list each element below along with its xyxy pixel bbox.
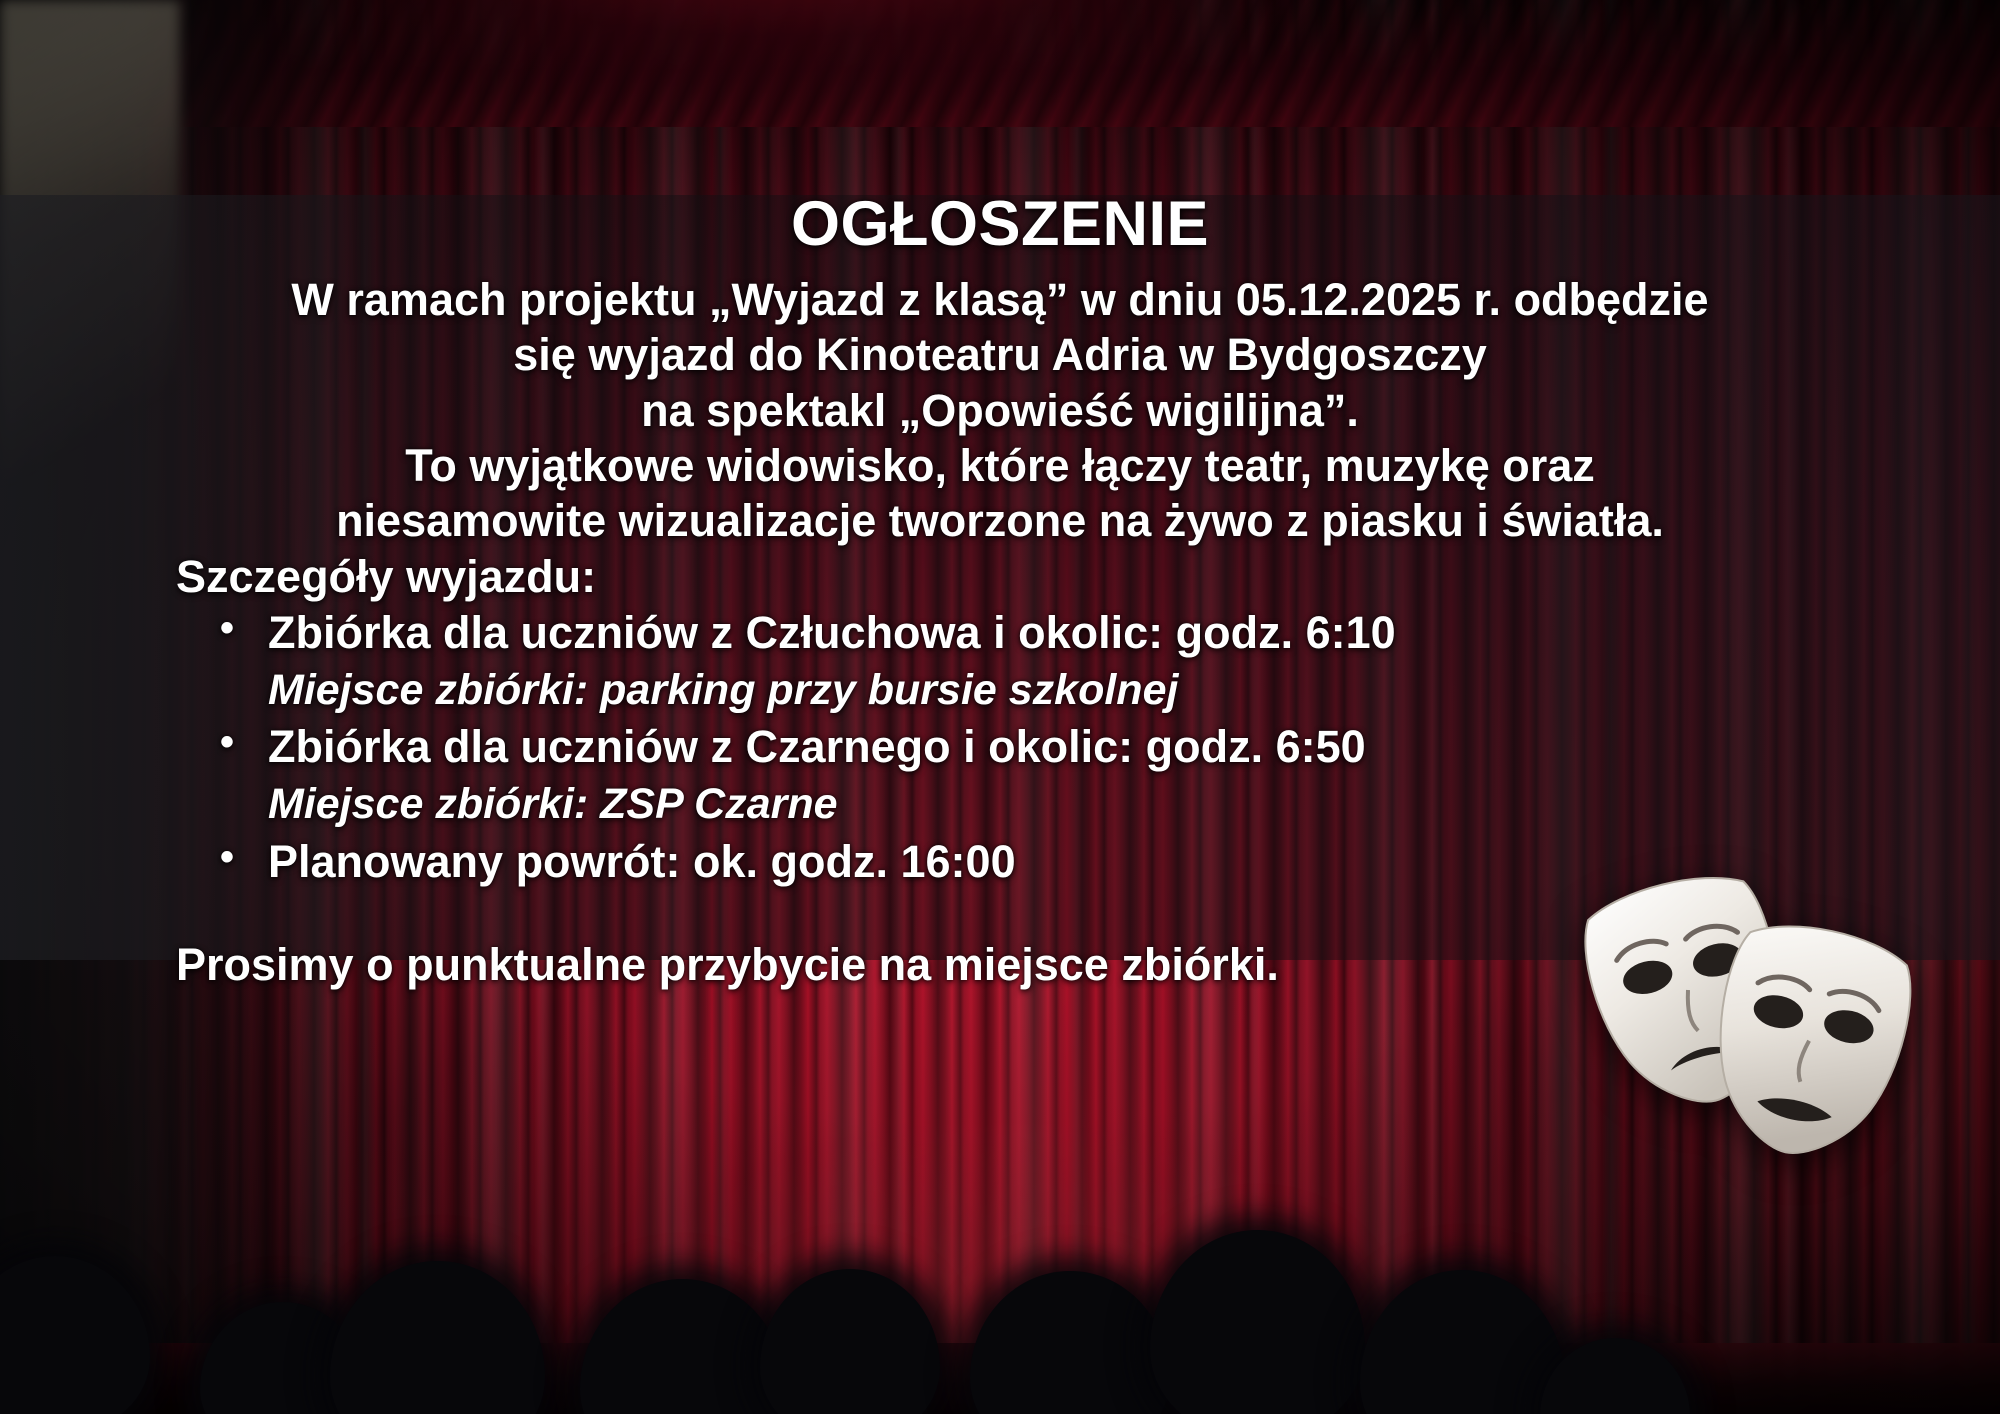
page-title: OGŁOSZENIE (34, 190, 1966, 258)
detail-main-text: Planowany powrót: ok. godz. 16:00 (220, 833, 1966, 892)
intro-line-3: na spektakl „Opowieść wigilijna”. (34, 383, 1966, 438)
poster-content: OGŁOSZENIE W ramach projektu „Wyjazd z k… (0, 190, 2000, 1039)
poster-canvas: OGŁOSZENIE W ramach projektu „Wyjazd z k… (0, 0, 2000, 1414)
intro-line-5: niesamowite wizualizacje tworzone na żyw… (34, 493, 1966, 548)
detail-sub-text: Miejsce zbiórki: parking przy bursie szk… (220, 663, 1966, 719)
list-item: Planowany powrót: ok. godz. 16:00 (220, 833, 1966, 892)
details-heading: Szczegóły wyjazdu: (34, 549, 1966, 604)
detail-sub-text: Miejsce zbiórki: ZSP Czarne (220, 777, 1966, 833)
intro-line-2: się wyjazd do Kinoteatru Adria w Bydgosz… (34, 327, 1966, 382)
closing-text: Prosimy o punktualne przybycie na miejsc… (34, 936, 1966, 994)
list-item: Zbiórka dla uczniów z Człuchowa i okolic… (220, 604, 1966, 718)
details-list: Zbiórka dla uczniów z Człuchowa i okolic… (34, 604, 1966, 891)
detail-main-text: Zbiórka dla uczniów z Czarnego i okolic:… (220, 718, 1966, 777)
detail-main-text: Zbiórka dla uczniów z Człuchowa i okolic… (220, 604, 1966, 663)
intro-line-4: To wyjątkowe widowisko, które łączy teat… (34, 438, 1966, 493)
intro-line-1: W ramach projektu „Wyjazd z klasą” w dni… (34, 272, 1966, 327)
list-item: Zbiórka dla uczniów z Czarnego i okolic:… (220, 718, 1966, 832)
